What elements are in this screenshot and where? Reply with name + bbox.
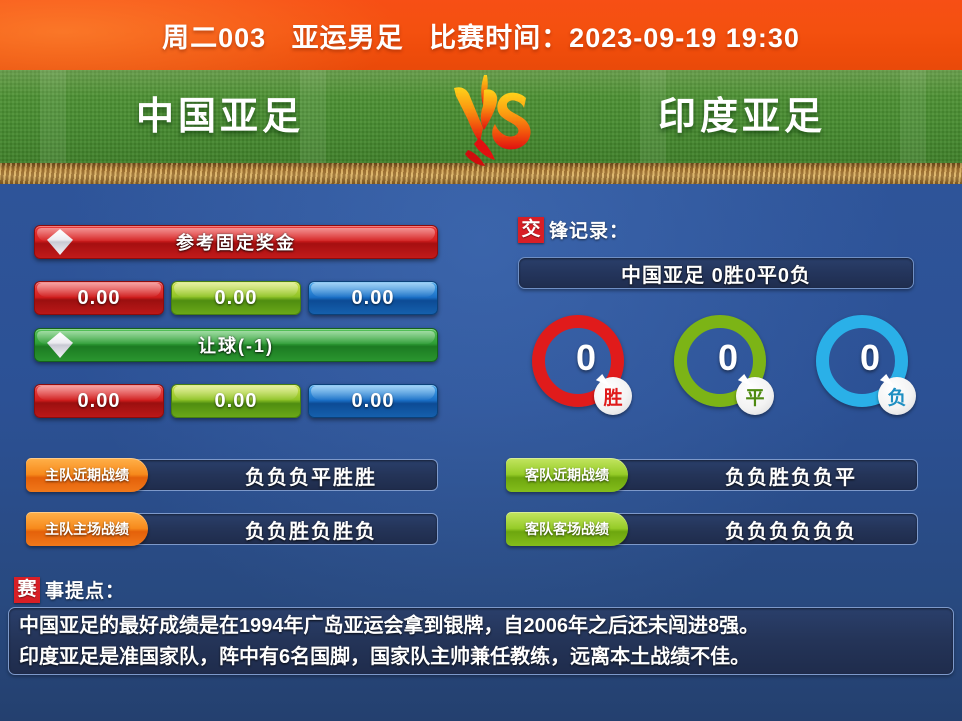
form-row-away-recent[interactable]: 负负胜负负平 客队近期战绩 <box>506 458 918 492</box>
away-away-form-tab: 客队客场战绩 <box>506 512 628 546</box>
h2h-losses-ring: 0 负 <box>816 315 908 407</box>
notes-line: 印度亚足是准国家队，阵中有6名国脚，国家队主帅兼任教练，远离本土战绩不佳。 <box>19 642 943 673</box>
home-team-name: 中国亚足 <box>0 82 440 152</box>
versus-icon <box>440 72 540 170</box>
home-home-form-value: 负负胜负胜负 <box>104 513 438 545</box>
away-away-form-value: 负负负负负负 <box>584 513 918 545</box>
away-team-name: 印度亚足 <box>522 82 962 152</box>
h2h-heading-label: 锋记录： <box>549 216 629 243</box>
h2h-wins-ring: 0 胜 <box>532 315 624 407</box>
form-row-home-recent[interactable]: 负负负平胜胜 主队近期战绩 <box>26 458 438 492</box>
home-recent-form-value: 负负负平胜胜 <box>104 459 438 491</box>
home-home-form-tab: 主队主场战绩 <box>26 512 148 546</box>
match-notes-box: 中国亚足的最好成绩是在1994年广岛亚运会拿到银牌，自2006年之后还未闯进8强… <box>8 607 954 675</box>
away-recent-form-tab: 客队近期战绩 <box>506 458 628 492</box>
notes-heading-label: 事提点： <box>45 576 125 603</box>
notes-section-heading: 赛 事提点： <box>14 576 125 603</box>
away-recent-form-value: 负负胜负负平 <box>584 459 918 491</box>
handicap-title-bar: 让球(-1) <box>34 328 438 362</box>
h2h-draws-ring: 0 平 <box>674 315 766 407</box>
fixed-bonus-title-label: 参考固定奖金 <box>176 229 296 255</box>
h2h-summary-bar: 中国亚足 0胜0平0负 <box>518 257 914 289</box>
match-header-title: 周二003 亚运男足 比赛时间：2023-09-19 19:30 <box>0 0 962 70</box>
notes-heading-kanji-icon: 赛 <box>14 577 40 603</box>
fixed-bonus-title-bar: 参考固定奖金 <box>34 225 438 259</box>
handicap-title-label: 让球(-1) <box>198 332 274 358</box>
handicap-away-button[interactable]: 0.00 <box>308 384 438 418</box>
fixed-bonus-draw-button[interactable]: 0.00 <box>171 281 301 315</box>
home-recent-form-tab: 主队近期战绩 <box>26 458 148 492</box>
h2h-heading-kanji-icon: 交 <box>518 217 544 243</box>
form-row-home-at-home[interactable]: 负负胜负胜负 主队主场战绩 <box>26 512 438 546</box>
losses-badge: 负 <box>878 377 916 415</box>
handicap-draw-button[interactable]: 0.00 <box>171 384 301 418</box>
handicap-home-button[interactable]: 0.00 <box>34 384 164 418</box>
fixed-bonus-home-button[interactable]: 0.00 <box>34 281 164 315</box>
h2h-section-heading: 交 锋记录： <box>518 216 629 243</box>
form-row-away-at-away[interactable]: 负负负负负负 客队客场战绩 <box>506 512 918 546</box>
fixed-bonus-away-button[interactable]: 0.00 <box>308 281 438 315</box>
draws-badge: 平 <box>736 377 774 415</box>
wins-badge: 胜 <box>594 377 632 415</box>
notes-line: 中国亚足的最好成绩是在1994年广岛亚运会拿到银牌，自2006年之后还未闯进8强… <box>19 611 943 642</box>
